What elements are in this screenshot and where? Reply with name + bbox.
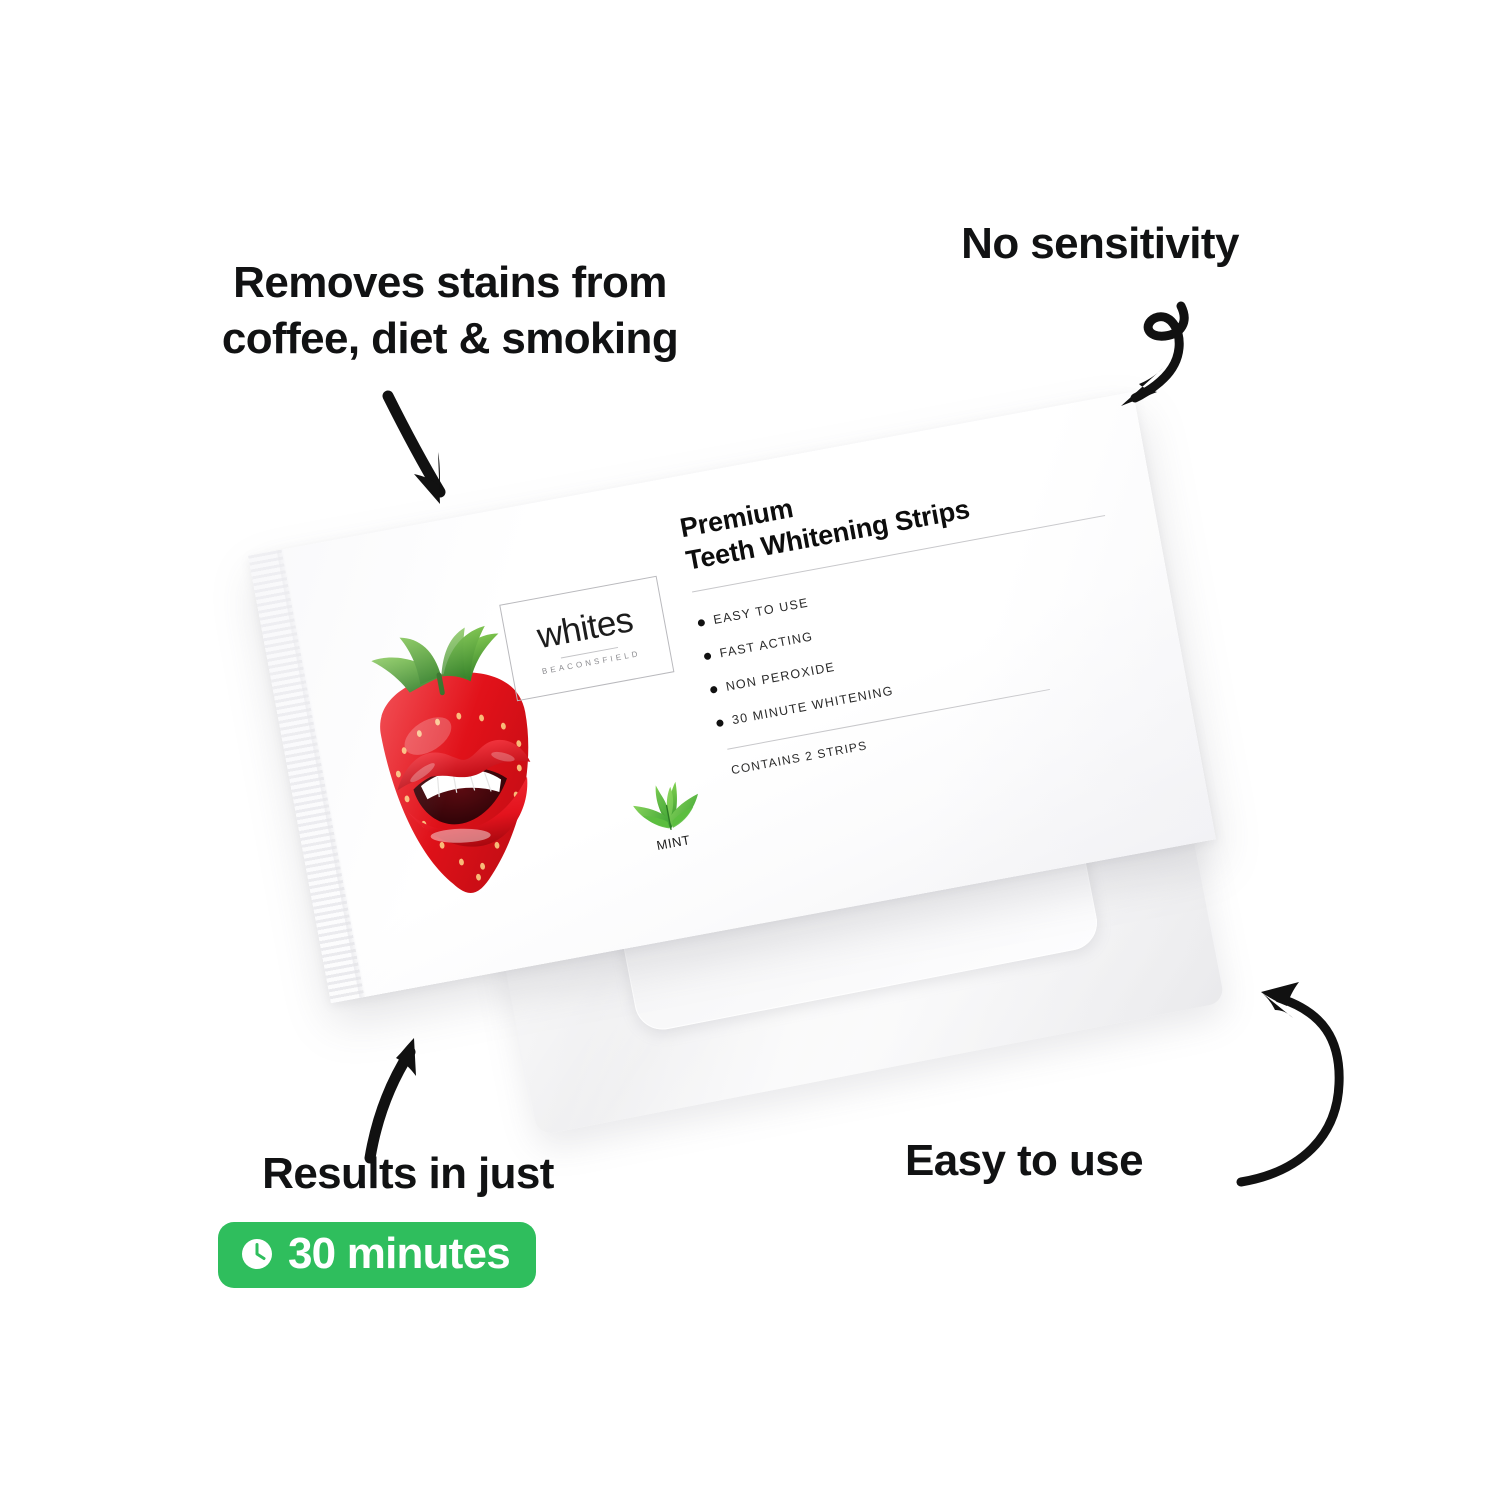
- time-badge: 30 minutes: [218, 1222, 536, 1288]
- mint-leaf-icon: [624, 766, 708, 838]
- arrow-down-icon: [370, 388, 510, 514]
- brand-logo: whites BEACONSFIELD: [499, 576, 674, 702]
- brand-name: whites: [534, 602, 635, 654]
- arrow-up-icon: [340, 1030, 450, 1165]
- product-copy: Premium Teeth Whitening Strips EASY TO U…: [677, 436, 1139, 778]
- sachet-seal-edge: [248, 550, 364, 1004]
- arrow-curve-up-left-icon: [1235, 960, 1425, 1190]
- brand-sub-name: BEACONSFIELD: [541, 649, 641, 675]
- callout-removes-stains: Removes stains from coffee, diet & smoki…: [150, 255, 750, 368]
- callout-no-sensitivity: No sensitivity: [900, 218, 1300, 271]
- time-badge-label: 30 minutes: [288, 1232, 510, 1276]
- arrow-curl-down-left-icon: [1085, 300, 1215, 420]
- product-marketing-image: whites BEACONSFIELD: [0, 0, 1500, 1500]
- flavour-mark: MINT: [613, 764, 722, 859]
- callout-easy-to-use: Easy to use: [905, 1135, 1245, 1188]
- clock-icon: [238, 1235, 276, 1273]
